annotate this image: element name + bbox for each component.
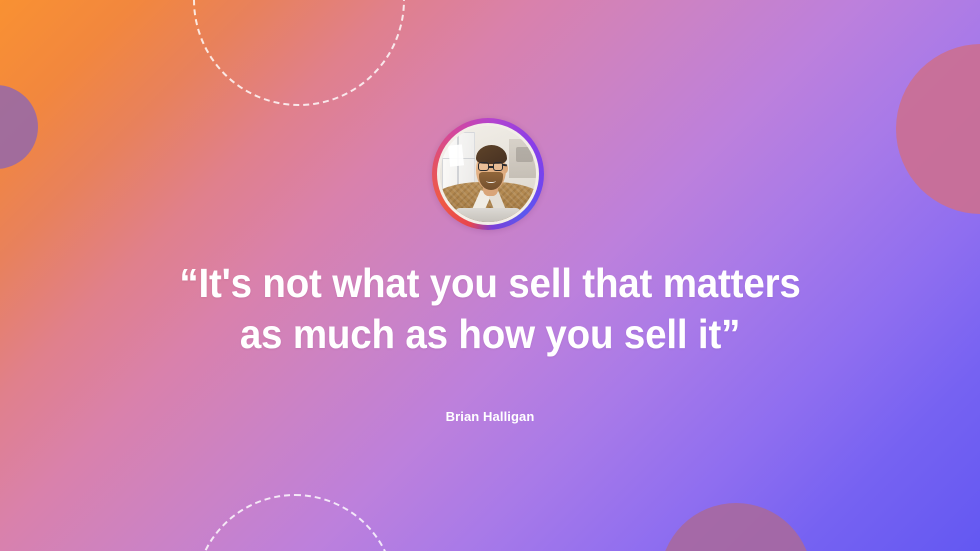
quote-line-1: “It's not what you sell that matters <box>29 258 950 309</box>
decorative-dashed-circle-top <box>193 0 405 106</box>
quote-line-2: as much as how you sell it” <box>29 309 950 360</box>
photo-glasses-lens-left <box>478 162 489 171</box>
avatar-ring-inner <box>437 123 539 225</box>
photo-glasses-bridge <box>489 166 493 168</box>
avatar-photo <box>440 126 536 222</box>
decorative-dashed-circle-bottom <box>194 494 396 551</box>
quote-text: “It's not what you sell that matters as … <box>29 258 950 360</box>
decorative-circle-left <box>0 85 38 169</box>
photo-shelf-object <box>516 147 533 162</box>
quote-author: Brian Halligan <box>0 409 980 424</box>
dashed-ring-outline <box>193 0 405 106</box>
photo-laptop <box>455 208 520 222</box>
dashed-ring-outline <box>194 494 396 551</box>
quote-slide: “It's not what you sell that matters as … <box>0 0 980 551</box>
decorative-circle-bottom-right <box>660 503 812 551</box>
avatar <box>432 118 544 230</box>
photo-paper <box>448 144 465 166</box>
photo-smile <box>486 179 496 183</box>
decorative-circle-top-right <box>896 44 980 214</box>
